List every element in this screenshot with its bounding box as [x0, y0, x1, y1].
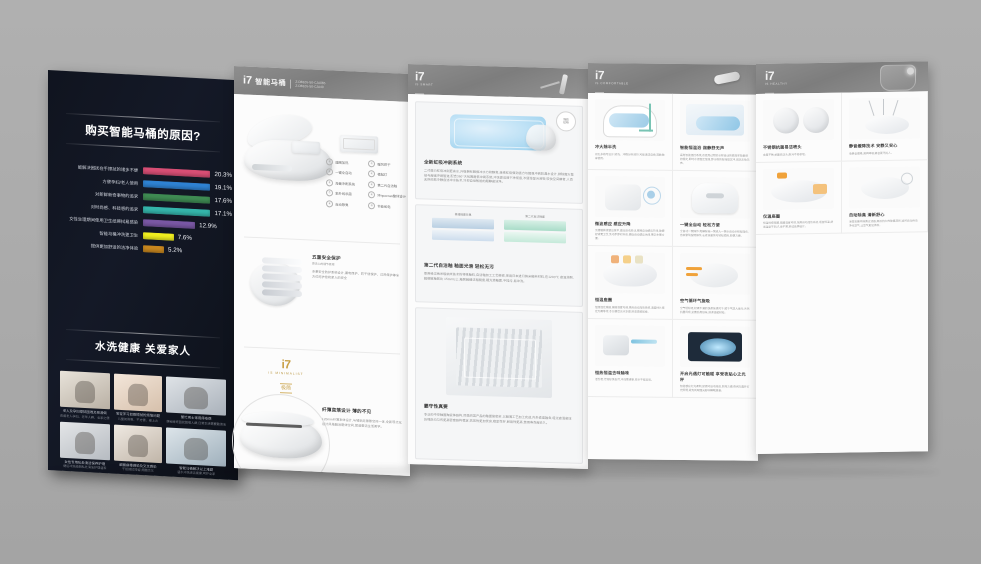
chart-bar-value: 20.3% — [214, 171, 232, 179]
feature-list-item: ⑥第二代自洁釉 — [368, 181, 406, 190]
siphon-badge: 强劲 虹吸 — [556, 111, 576, 132]
spec-body: 恒温恒控座圈,座圈温度可调,采用自动加热系统,适宜恒温,舒适温度不同,久坐不累,… — [763, 221, 834, 230]
benefit-photo — [60, 421, 110, 460]
dark-infographic-panel: 购买智能马桶的原因? 能解决困扰在手擦拭的诸多不便20.3%方便孕妇/老人使用1… — [48, 70, 238, 480]
minimalist-text-block: 纤薄直落设计 薄的不见 120mm纤薄本体设计,与墙贴无隙隙空间一体,全新现代化… — [322, 406, 402, 430]
chart-bar-label: 女性生理期间使用卫生纸擦拭易感染 — [56, 214, 143, 226]
feature-bullet-icon: ① — [326, 158, 333, 165]
chart-bar — [143, 167, 210, 178]
feature-list-item: ②暖风烘干 — [368, 160, 406, 169]
feature-bullet-icon: ② — [368, 160, 375, 167]
spec-thumbnail — [680, 100, 750, 142]
i7-logo: i7 — [765, 70, 788, 82]
spec-title: 不锈钢抗菌易洁喷头 — [763, 144, 834, 151]
benefit-photo — [114, 424, 163, 463]
spec-thumbnail — [763, 167, 834, 209]
glaze-title: 第二代自洁釉 釉面光滑 轻松无污 — [424, 261, 574, 272]
spec-cell: 开启光遇灯可触碰 享受夜贴心之光杯智能感应灯光柔和,起夜时自动亮启,照亮方便,夜… — [673, 319, 758, 398]
benefit-photo — [166, 376, 226, 415]
hero-product-image — [240, 108, 336, 190]
glaze-body: 使用经过纳米级纳米技术的特殊釉料,自洁釉加工工艺精密,采用日本进口纳米釉料材料,… — [424, 271, 574, 284]
feature-list-item: ⑨自动除臭 — [326, 200, 361, 209]
comfort-feature-grid: 冲大除半洗双孔多档可设计,轻洗、冲刷分开进行,可按清洁自由,百款独享使用。智能恒… — [588, 93, 758, 399]
panel-comfort-header: i7 IS COMFORTABLE 舒适 — [588, 63, 758, 95]
minimalist-body: 120mm纤薄本体设计,与墙贴无隙隙空间一体,全新现代化设计风格融洽整体空间,营… — [322, 417, 402, 430]
benefit-photo-cell: 细菌病毒感染及交叉感染干纸擦拭残留,细菌交叉 — [114, 424, 163, 473]
spec-body: 活性炭,行效除臭去污,冲洗更清新,安全不留异味。 — [595, 378, 665, 383]
chart-bar — [143, 245, 164, 253]
structure-card: 霸守性真要 专业的中空釉面陶瓷体结构,同类同类产品的釉面层密封,以超薄工艺加工完… — [415, 307, 583, 464]
panel-cover-title: 智能马桶 — [255, 76, 286, 87]
spec-cell: 微波感应 感应升降无接触微波感应技术,感应自动启动,座圈自动感应升降,放便舒适更… — [588, 170, 673, 247]
chart-bar — [143, 193, 210, 204]
feature-bullet-icon: ⑥ — [368, 181, 375, 188]
spec-cell: 自动除臭 清新舒心活性炭循环除臭过滤器,高效持久的除臭清新,适时自动自动净化空气… — [842, 160, 928, 234]
remote-control-image — [340, 135, 378, 154]
chart-bar-label: 能解决困扰在手擦拭的诸多不便 — [56, 162, 143, 174]
feature-list-item: ⑦紫外线杀菌 — [326, 189, 361, 198]
glaze-card: 普通釉面效果 第二代自洁釉面 第二代自洁釉 釉面光滑 轻松无污 使用经过纳米级纳… — [415, 204, 583, 307]
benefit-photo-grid: 老人及孕妇擦拭困难及易滑倒改善老人孕妇、老年人群、全家之便宝宝学习如厕擦拭的烦恼… — [48, 370, 238, 478]
spec-title: 静音缓降技术 安静又安心 — [849, 142, 920, 149]
spec-thumbnail — [595, 99, 665, 141]
spec-body: 全静音缓降,减声降噪,静音更不扰人。 — [849, 151, 920, 156]
spec-cell: 恒温座圈恒温恒定座圈,座圈温度可调,采用自动加热系统,温度持久恒定无需等待,冬日… — [588, 246, 673, 319]
benefit-photo — [60, 371, 110, 410]
structure-title: 霸守性真要 — [424, 402, 574, 413]
panel-comfort-en: IS COMFORTABLE — [595, 81, 629, 86]
chart-bar-value: 12.9% — [199, 222, 217, 230]
chart-bar-label: 提供更加舒适的洁净体验 — [56, 240, 143, 252]
spec-title: 仅温座圈 — [763, 212, 834, 219]
spec-thumbnail — [849, 97, 920, 139]
spec-title: 恒热恒温去味除味 — [595, 370, 665, 377]
feature-list-item: ⑧环простая整体设计 — [368, 191, 406, 200]
feature-bullet-icon: ⑩ — [368, 202, 375, 209]
spec-thumbnail — [680, 325, 750, 367]
minimalist-title: 纤薄直落设计 薄的不见 — [322, 406, 402, 417]
spec-thumbnail — [680, 253, 750, 295]
five-protection-body: 多重安全防护系统设计,漏电保护、防干烧保护、过热保护等全方位呵护您和家人的安全 — [312, 270, 400, 283]
siphon-badge-line2: 虹吸 — [563, 121, 569, 125]
spec-body: 全自动一键操作,电解智能一键进入一键全自动全程智能化,省去繁琐按键操作,长者孩童… — [680, 230, 750, 239]
spec-title: 自动除臭 清新舒心 — [849, 211, 920, 218]
brochure-scene: 购买智能马桶的原因? 能解决困扰在手擦拭的诸多不便20.3%方便孕妇/老人使用1… — [0, 0, 981, 564]
brand-block: i7 IS MINIMALIST 极简 — [262, 357, 310, 395]
spec-cell: 不锈钢抗菌易洁喷头食用不锈,抗菌易洁头,耐污不易积垢。 — [756, 93, 842, 163]
benefit-photo-cell: 宝宝学习如厕擦拭的烦恼问题儿童如厕难、不方便、易上火 — [114, 374, 163, 423]
section-subtitle: 水洗健康 关爱家人 — [48, 336, 238, 361]
feature-list-item: ④夜起灯 — [368, 170, 406, 179]
reasons-bar-chart: 能解决困扰在手擦拭的诸多不便20.3%方便孕妇/老人使用19.1%对新鲜新奇事物… — [54, 160, 232, 261]
model-code-2: Z-DB105-S0-CJA40 — [290, 84, 325, 90]
chart-bar-value: 7.6% — [178, 234, 192, 242]
feature-bullet-icon: ⑦ — [326, 189, 333, 196]
chart-bar-label: 方便孕妇/老人使用 — [56, 175, 143, 187]
panel-health-en: IS HEALTHY — [765, 82, 788, 87]
siphon-body: 二代强力虹吸冲刷更省水,升级拥有超强冲水力和静音,连续虹吸强劲强力与超强冲刷防漏… — [424, 168, 574, 186]
spec-body: 食用不锈,抗菌易洁头,耐污不易积垢。 — [763, 152, 834, 157]
chart-bar-value: 19.1% — [214, 184, 232, 192]
spec-cell: 仅温座圈恒温恒控座圈,座圈温度可调,采用自动加热系统,适宜恒温,舒适温度不同,久… — [756, 161, 842, 235]
feature-bullet-icon: ⑤ — [326, 179, 333, 186]
panel-cover: i7 智能马桶 Z-DB105-S0-CJA065 Z-DB105-S0-CJA… — [234, 66, 410, 476]
spec-body: 采用智能温控系统,在使用过程的全程自动的高效率效量保持恒定,即时水温恒定恒温,即… — [680, 153, 750, 166]
chart-bar-value: 17.1% — [214, 210, 232, 218]
feature-bullet-icon: ④ — [368, 170, 375, 177]
feature-list-label: 环простая整体设计 — [377, 193, 406, 199]
spec-thumbnail — [595, 176, 665, 218]
panel-health: i7 IS HEALTHY 健康 不锈钢抗菌易洁喷头食用不锈,抗菌易洁头,耐污不… — [756, 61, 928, 454]
health-feature-grid: 不锈钢抗菌易洁喷头食用不锈,抗菌易洁头,耐污不易积垢。静音缓降技术 安静又安心全… — [756, 91, 928, 235]
spec-thumbnail — [680, 176, 750, 218]
chart-bar — [143, 219, 195, 229]
chart-bar — [143, 180, 210, 191]
feature-list-label: 节能省电 — [377, 203, 390, 209]
glaze-chart-label-1: 普通釉面效果 — [432, 212, 494, 218]
spec-body: 空气轻松吸,轻柔不潮的快速急速风干,暖干气送入体内,天然抗菌风吸,抗菌防臭除味,… — [680, 306, 750, 315]
spec-cell: 智能恒温浴 润静舒无声采用智能温控系统,在使用过程的全程自动的高效率效量保持恒定… — [673, 94, 758, 171]
siphon-card: 强劲 虹吸 全新虹吸冲刷系统 二代强力虹吸冲刷更省水,升级拥有超强冲水力和静音,… — [415, 101, 583, 204]
brand-en: IS MINIMALIST — [262, 369, 310, 377]
feature-list-label: 第二代自洁釉 — [377, 182, 397, 188]
feature-bullet-icon: ⑨ — [326, 200, 333, 207]
spec-body: 恒温恒定座圈,座圈温度可调,采用自动加热系统,温度持久恒定无需等待,冬日便后无冰… — [595, 306, 665, 315]
spec-title: 恒温座圈 — [595, 297, 665, 304]
feature-list-label: 一键全自动 — [335, 170, 351, 176]
benefit-photo-cell: 女性专用私处清洁保养护理便后冲洗经期私处清洁护理温和 — [60, 421, 110, 470]
i7-logo: i7 — [595, 69, 629, 81]
five-protection-block: 五重安全保护 更洗心的细节管理 多重安全防护系统设计,漏电保护、防干烧保护、过热… — [242, 246, 402, 345]
feature-list-label: 暖风烘干 — [377, 162, 390, 168]
spec-title: 冲大除半洗 — [595, 144, 665, 151]
chart-bar — [143, 206, 210, 217]
feature-bullet-icon: ⑧ — [368, 191, 375, 198]
spec-thumbnail — [849, 166, 920, 208]
spec-title: 一键全自动 轻松方便 — [680, 221, 750, 228]
benefit-photo-cell: 老人及孕妇擦拭困难及易滑倒改善老人孕妇、老年人群、全家之便 — [60, 371, 110, 420]
chart-bar — [143, 232, 174, 241]
i7-logo: i7 — [415, 70, 433, 83]
spec-body: 活性炭循环除臭过滤器,高效持久的除臭清新,适时自动自动净化空气,让空气更加清新。 — [849, 219, 920, 228]
spec-body: 无接触微波感应技术,感应自动启动,座圈自动感应升降,放便舒适更卫生,免动手即时开… — [595, 229, 665, 242]
spec-cell: 静音缓降技术 安静又安心全静音缓降,减声降噪,静音更不扰人。 — [842, 91, 928, 161]
siphon-title: 全新虹吸冲刷系统 — [424, 158, 574, 169]
minimalist-product-image — [230, 390, 330, 473]
chart-bar-value: 17.6% — [214, 197, 232, 205]
spec-thumbnail — [595, 252, 665, 294]
feature-list-label: 紫外线杀菌 — [335, 191, 351, 197]
spec-cell: 一键全自动 轻松方便全自动一键操作,电解智能一键进入一键全自动全程智能化,省去繁… — [673, 170, 758, 247]
spec-cell: 冲大除半洗双孔多档可设计,轻洗、冲刷分开进行,可按清洁自由,百款独享使用。 — [588, 93, 673, 170]
benefit-photo — [114, 374, 163, 413]
spec-title: 开启光遇灯可触碰 享受夜贴心之光杯 — [680, 370, 750, 383]
chart-bar-value: 5.2% — [168, 247, 182, 255]
feature-list-label: 座圈加热 — [335, 160, 348, 166]
spec-title: 微波感应 感应升降 — [595, 221, 665, 228]
feature-list-item: ①座圈加热 — [326, 158, 361, 167]
feature-list-label: 夜起灯 — [377, 172, 387, 177]
feature-bullet-icon: ③ — [326, 169, 333, 176]
chart-title: 购买智能马桶的原因? — [48, 120, 238, 146]
chart-bar-label: 对新鲜新奇事物的追求 — [56, 188, 143, 200]
feature-list-item: ⑤海量冲刷系统 — [326, 179, 361, 188]
feature-list: ①座圈加热②暖风烘干③一键全自动④夜起灯⑤海量冲刷系统⑥第二代自洁釉⑦紫外线杀菌… — [326, 158, 406, 210]
chart-bar-label: 对时尚感、科技感的追求 — [56, 201, 143, 213]
panel-comfort: i7 IS COMFORTABLE 舒适 冲大除半洗双孔多档可设计,轻洗、冲刷分… — [588, 63, 758, 461]
spec-body: 智能感应灯光柔和,起夜时自动亮启,照亮方便,夜间无需开灯光照明,避免刺眼强光影响… — [680, 385, 750, 394]
spec-cell: 恒热恒温去味除味活性炭,行效除臭去污,冲洗更清新,安全不留异味。 — [588, 319, 673, 398]
spec-title: 空气循环气旋吸 — [680, 298, 750, 305]
glaze-chart-label-2: 第二代自洁釉面 — [504, 214, 566, 220]
feature-list-item: ⑩节能省电 — [368, 202, 406, 211]
feature-list-item: ③一键全自动 — [326, 169, 361, 178]
spec-cell: 空气循环气旋吸空气轻松吸,轻柔不潮的快速急速风干,暖干气送入体内,天然抗菌风吸,… — [673, 247, 758, 320]
panel-health-header: i7 IS HEALTHY 健康 — [756, 61, 928, 94]
benefit-photo-cell: 繁忙男士常用痔疮病便秘痔疮困扰困难人群,日常生活需要勤清洁 — [166, 376, 226, 426]
spec-body: 双孔多档可设计,轻洗、冲刷分开进行,可按清洁自由,百款独享使用。 — [595, 153, 665, 162]
panel-wash-en: IS SMART — [415, 82, 433, 88]
feature-list-label: 海量冲刷系统 — [335, 180, 355, 186]
spec-thumbnail — [595, 325, 665, 367]
spec-thumbnail — [763, 99, 834, 141]
i7-logo: i7 — [243, 75, 252, 86]
feature-list-label: 自动除臭 — [335, 201, 348, 207]
panel-wash: i7 IS SMART 智能 强劲 虹吸 — [408, 64, 588, 469]
benefit-photo — [166, 427, 226, 466]
spec-title: 智能恒温浴 润静舒无声 — [680, 145, 750, 152]
structure-body: 专业的中空釉面陶瓷体结构,同类同类产品的釉面层密封,以超薄工艺加工完成,内外高度… — [424, 412, 574, 425]
chart-bar-label: 智能马桶冲洗更卫生 — [56, 227, 143, 239]
